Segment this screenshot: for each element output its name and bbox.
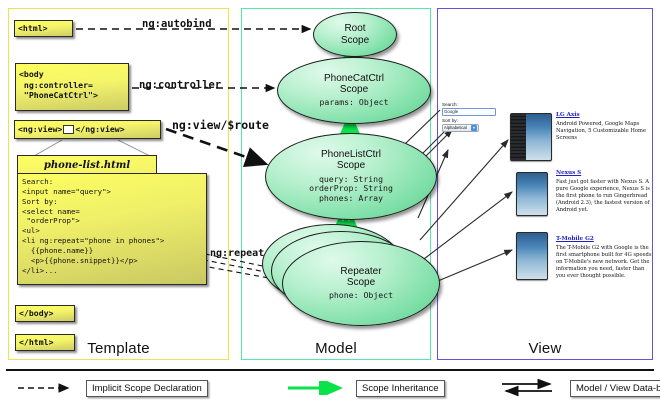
tag-body-close: </body>: [15, 305, 75, 322]
search-input[interactable]: Google: [442, 108, 496, 116]
phone-entry-nexus-s: Nexus S Fast just got faster with Nexus …: [556, 170, 652, 214]
chevron-down-icon: ▾: [471, 125, 477, 131]
search-label: Search:: [442, 102, 500, 107]
phone-name-link[interactable]: Nexus S: [556, 170, 652, 176]
legend-item-model-view-data-binding: Model / View Data-binding: [500, 377, 660, 399]
scope-phonecatctrl: PhoneCatCtrl Scope params: Object: [277, 57, 431, 124]
phone-snippet: Android Powered, Google Maps Navigation,…: [556, 121, 652, 142]
note-title: phone-list.html: [17, 155, 157, 174]
phone-screen-icon: [517, 233, 547, 279]
tag-ng-view: <ng:view></ng:view>: [14, 120, 161, 139]
note-code: Search: <input name="query"> Sort by: <s…: [17, 173, 207, 285]
ng-view-close: </ng:view>: [75, 124, 124, 135]
ng-view-slot-icon: [63, 125, 74, 134]
scope-phonelistctrl: PhoneListCtrl Scope query: String orderP…: [265, 133, 437, 220]
scope-root-title-2: Scope: [341, 35, 369, 46]
phone-snippet: The T-Mobile G2 with Google is the first…: [556, 245, 652, 280]
diagram-canvas: Template Model View: [0, 0, 660, 405]
scope-repeater: Repeater Scope phone: Object: [282, 241, 440, 326]
scope-phonecatctrl-title-1: PhoneCatCtrl: [324, 73, 384, 84]
sort-select-value: Alphabetical: [444, 124, 467, 131]
scope-repeater-stack: Repeater Scope phone: Object: [262, 224, 438, 324]
view-search-widget: Search: Google Sort by: Alphabetical ▾: [442, 102, 500, 132]
scope-phonelistctrl-title-2: Scope: [337, 160, 365, 171]
phone-thumbnail-nexus-s: [516, 172, 548, 216]
phone-name-link[interactable]: LG Axis: [556, 112, 652, 118]
phone-entry-lg-axis: LG Axis Android Powered, Google Maps Nav…: [556, 112, 652, 142]
legend: Implicit Scope Declaration Scope Inherit…: [0, 374, 660, 402]
label-ng-repeat: ng:repeat: [210, 248, 264, 259]
scope-phonelistctrl-title-1: PhoneListCtrl: [321, 149, 381, 160]
legend-item-scope-inheritance: Scope Inheritance: [286, 377, 445, 399]
scope-repeater-title-2: Scope: [347, 277, 375, 288]
dashed-arrow-icon: [16, 381, 78, 395]
legend-item-implicit-scope-declaration: Implicit Scope Declaration: [16, 377, 208, 399]
ng-view-open: <ng:view>: [18, 124, 62, 135]
tag-body-open: <body ng:controller= "PhoneCatCtrl">: [15, 63, 129, 111]
legend-label: Model / View Data-binding: [570, 380, 660, 397]
sort-label: Sort by:: [442, 118, 500, 123]
label-ng-view-route: ng:view/$route: [172, 118, 269, 132]
sort-select[interactable]: Alphabetical ▾: [442, 124, 479, 132]
tag-html-open: <html>: [14, 20, 73, 37]
scope-repeater-props: phone: Object: [329, 291, 393, 301]
scope-root: Root Scope: [313, 12, 397, 57]
legend-label: Implicit Scope Declaration: [86, 380, 208, 397]
phone-name-link[interactable]: T-Mobile G2: [556, 236, 652, 242]
phone-list-html-note: phone-list.html Search: <input name="que…: [17, 155, 207, 300]
scope-phonecatctrl-props: params: Object: [319, 98, 388, 108]
scope-repeater-title-1: Repeater: [340, 266, 381, 277]
label-ng-autobind: ng:autobind: [142, 18, 212, 30]
label-ng-controller: ng:controller: [139, 79, 221, 91]
green-arrow-icon: [286, 381, 348, 395]
legend-label: Scope Inheritance: [356, 380, 445, 397]
phone-thumbnail-lg-axis: [510, 113, 552, 161]
column-label-model: Model: [242, 340, 430, 357]
double-arrow-icon: [500, 379, 562, 397]
legend-divider: [6, 369, 654, 371]
phone-entry-t-mobile-g2: T-Mobile G2 The T-Mobile G2 with Google …: [556, 236, 652, 280]
phone-keyboard-icon: [511, 114, 526, 160]
scope-root-title-1: Root: [344, 23, 365, 34]
column-label-view: View: [438, 340, 652, 357]
scope-phonelistctrl-props: query: String orderProp: String phones: …: [309, 175, 393, 205]
phone-screen-icon: [526, 114, 551, 160]
scope-phonecatctrl-title-2: Scope: [340, 84, 368, 95]
phone-screen-icon: [517, 173, 547, 215]
phone-thumbnail-t-mobile-g2: [516, 232, 548, 280]
tag-html-close: </html>: [15, 334, 75, 351]
phone-snippet: Fast just got faster with Nexus S. A pur…: [556, 179, 652, 214]
